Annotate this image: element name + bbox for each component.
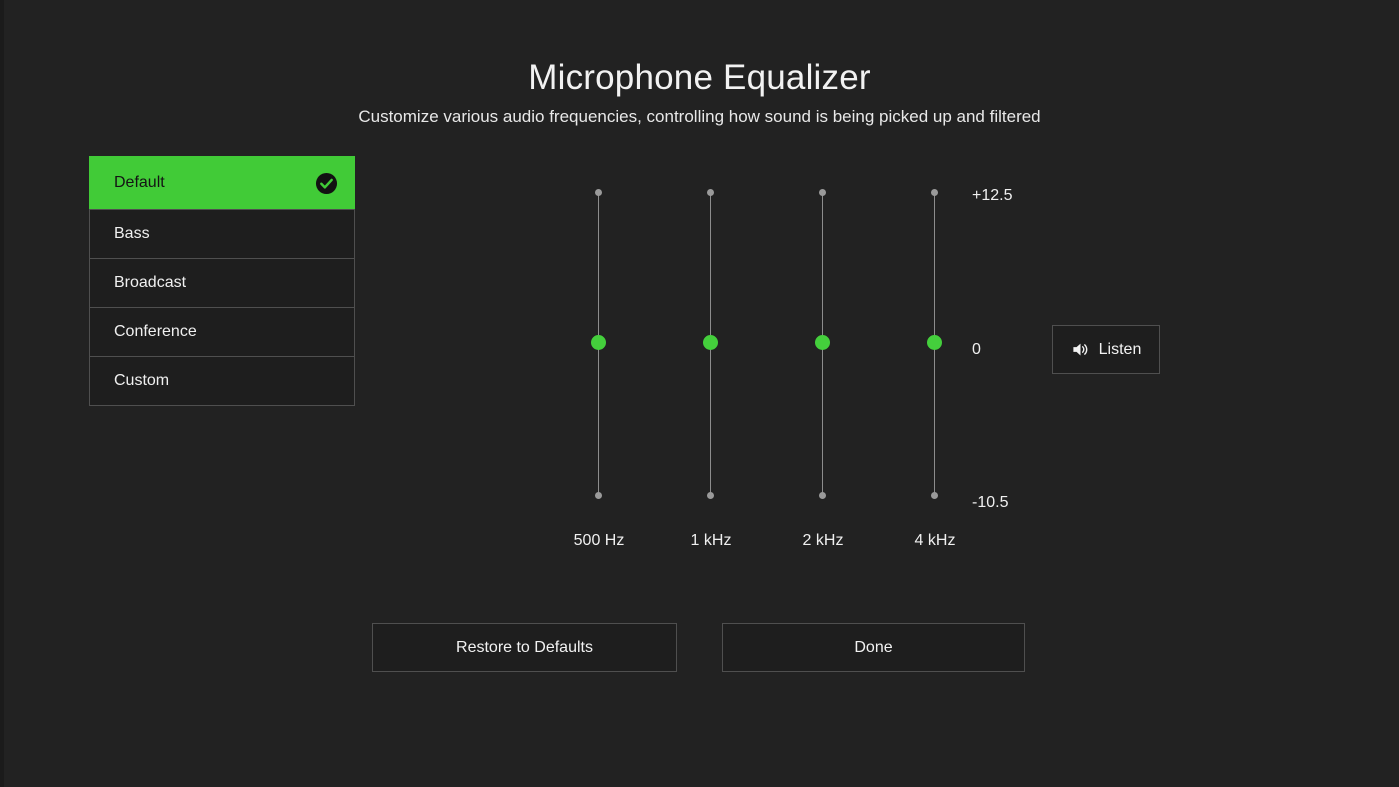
preset-item-label: Conference — [114, 323, 338, 341]
restore-to-defaults-label: Restore to Defaults — [456, 639, 593, 657]
slider-thumb[interactable] — [703, 335, 718, 350]
done-button[interactable]: Done — [722, 623, 1025, 672]
slider-rail-cap-bottom — [931, 492, 938, 499]
slider-rail-cap-top — [707, 189, 714, 196]
check-circle-icon — [315, 172, 338, 195]
done-label: Done — [854, 639, 892, 657]
preset-item-broadcast[interactable]: Broadcast — [89, 258, 355, 308]
preset-item-bass[interactable]: Bass — [89, 209, 355, 259]
eq-band-frequency-label: 500 Hz — [543, 532, 655, 550]
eq-band-frequency-label: 1 kHz — [655, 532, 767, 550]
slider-thumb[interactable] — [591, 335, 606, 350]
slider-rail-cap-top — [819, 189, 826, 196]
preset-item-label: Bass — [114, 225, 338, 243]
preset-item-label: Broadcast — [114, 274, 338, 292]
preset-item-label: Default — [114, 174, 315, 192]
speaker-volume-icon — [1071, 340, 1090, 359]
header: Microphone Equalizer Customize various a… — [0, 0, 1399, 128]
slider-rail-cap-bottom — [819, 492, 826, 499]
eq-band-frequency-label: 4 kHz — [879, 532, 991, 550]
preset-item-default[interactable]: Default — [89, 156, 355, 210]
page-title: Microphone Equalizer — [0, 0, 1399, 100]
page-subtitle: Customize various audio frequencies, con… — [0, 100, 1399, 128]
scale-label-min: -10.5 — [972, 494, 1062, 512]
equalizer-sliders: 500 Hz 1 kHz 2 kHz 4 kHz +12.5 0 -10.5 — [540, 186, 1060, 566]
scale-label-mid: 0 — [972, 341, 1062, 359]
slider-thumb[interactable] — [815, 335, 830, 350]
slider-rail-cap-top — [931, 189, 938, 196]
eq-band-2khz: 2 kHz — [767, 186, 879, 566]
restore-to-defaults-button[interactable]: Restore to Defaults — [372, 623, 677, 672]
scale-label-max: +12.5 — [972, 187, 1062, 205]
slider-rail-cap-bottom — [595, 492, 602, 499]
slider-rail-cap-bottom — [707, 492, 714, 499]
preset-item-label: Custom — [114, 372, 338, 390]
preset-item-custom[interactable]: Custom — [89, 356, 355, 406]
listen-button[interactable]: Listen — [1052, 325, 1160, 374]
eq-band-500hz: 500 Hz — [543, 186, 655, 566]
slider-rail-cap-top — [595, 189, 602, 196]
preset-item-conference[interactable]: Conference — [89, 307, 355, 357]
listen-button-label: Listen — [1099, 341, 1142, 359]
eq-band-1khz: 1 kHz — [655, 186, 767, 566]
slider-thumb[interactable] — [927, 335, 942, 350]
preset-list: Default Bass Broadcast Conference Custom — [89, 156, 355, 406]
eq-band-frequency-label: 2 kHz — [767, 532, 879, 550]
